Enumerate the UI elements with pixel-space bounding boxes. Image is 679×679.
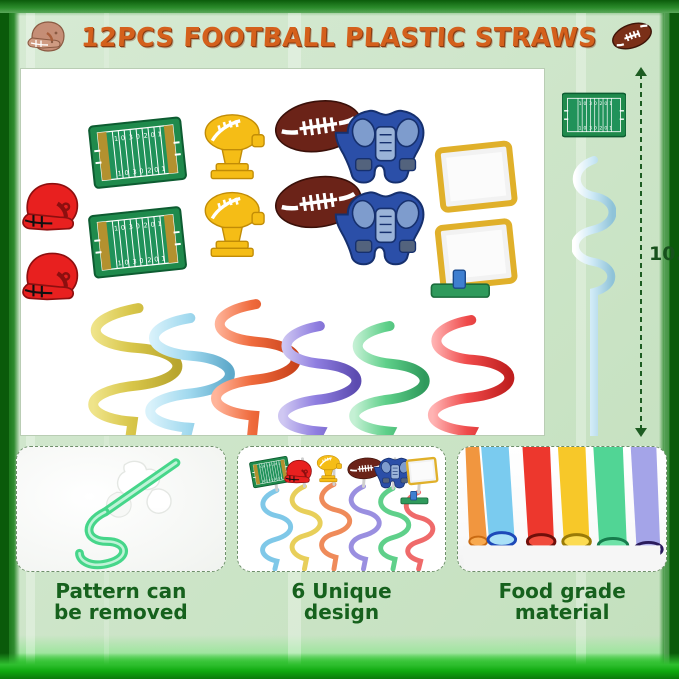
mini-topper-field [249,456,291,488]
svg-text:1: 1 [609,126,612,132]
football-helmet-icon [25,17,67,60]
feature-caption-2: 6 Unique design [291,581,391,624]
svg-text:1: 1 [609,101,612,107]
feature-image-1 [16,446,226,572]
mini-topper-helmet [284,460,311,483]
caption-line-1: 6 Unique [291,581,391,602]
feature-caption-3: Food grade material [499,581,626,624]
dimension-arrow-up [635,67,647,76]
svg-text:2: 2 [600,126,603,132]
svg-text:0: 0 [584,126,587,132]
straws-illustration: 103 0201 103 0201 [21,69,544,436]
mini-topper-flag [406,458,437,484]
straw-tubes [466,447,663,556]
feature-six-designs: 6 Unique design [237,446,447,662]
feature-panels: Pattern can be removed [16,446,667,662]
feature-image-2 [237,446,447,572]
feature-pattern-removable: Pattern can be removed [16,446,226,662]
feature-food-grade: Food grade material [457,446,667,662]
svg-text:1: 1 [579,101,582,107]
caption-line-2: design [291,602,391,623]
feature-image-3 [457,446,667,572]
header: 12PCS FOOTBALL PLASTIC STRAWS [0,16,679,60]
caption-line-2: be removed [54,602,188,623]
topper-flag-2 [437,221,515,288]
svg-text:1: 1 [579,126,582,132]
football-icon [610,20,654,57]
page-title: 12PCS FOOTBALL PLASTIC STRAWS [80,23,597,53]
main-product-image: 103 0201 103 0201 [20,68,545,436]
caption-line-1: Food grade [499,581,626,602]
svg-text:0: 0 [604,126,607,132]
size-callout: 103 0201 103 0201 10.5" [548,68,667,436]
football-field-icon: 103 0201 103 0201 [562,90,626,140]
product-infographic: 12PCS FOOTBALL PLASTIC STRAWS [0,0,679,679]
topper-field-2 [89,207,187,278]
svg-text:0: 0 [604,101,607,107]
svg-text:0: 0 [584,101,587,107]
dimension-label: 10.5" [649,243,679,265]
mini-topper-trophy [317,455,341,481]
topper-flag-1 [437,143,515,210]
dimension-arrow-down [635,428,647,437]
svg-text:2: 2 [600,101,603,107]
top-border-band [0,0,679,13]
svg-text:0: 0 [594,126,597,132]
feature-caption-1: Pattern can be removed [54,581,188,624]
caption-line-2: material [499,602,626,623]
dimension-line [640,74,642,430]
caption-line-1: Pattern can [54,581,188,602]
svg-text:3: 3 [589,126,592,132]
svg-text:3: 3 [589,101,592,107]
mini-flag-base [401,491,428,503]
svg-text:0: 0 [594,101,597,107]
topper-field-1 [89,117,187,188]
